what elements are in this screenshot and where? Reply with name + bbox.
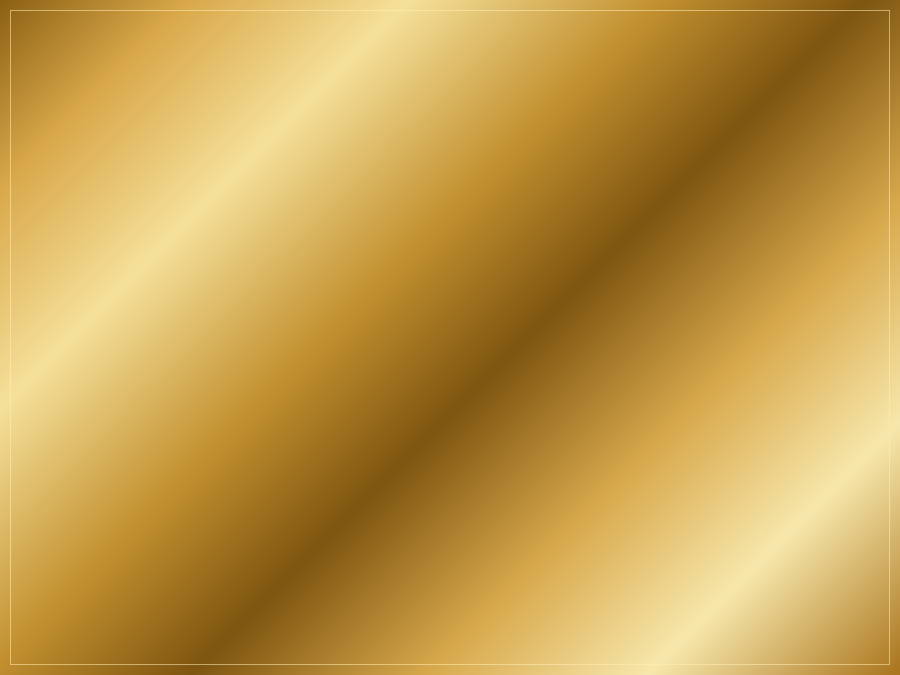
text-content-block: 11000 Chandra Mool Mantra Jaap Sahit Dud… <box>54 68 484 339</box>
headline-primary: 11000 Chandra <box>54 68 484 119</box>
bel-patra-leaves-icon <box>198 481 328 611</box>
map-pin-icon <box>54 285 84 327</box>
earring-icon <box>723 168 737 188</box>
headline-tertiary: Sahit Dudh Abhishek <box>54 192 484 223</box>
milk-bowl-icon <box>108 513 212 589</box>
poster-canvas: 11000 Chandra Mool Mantra Jaap Sahit Dud… <box>0 0 900 675</box>
headline-tertiary-prefix: Sahit <box>54 192 123 222</box>
headline-tertiary-suffix: Abhishek <box>192 192 309 222</box>
damru-icon <box>837 286 871 326</box>
poster-inner-area: 11000 Chandra Mool Mantra Jaap Sahit Dud… <box>12 12 888 663</box>
tripundra-tilak-icon <box>663 126 707 135</box>
offering-props-group <box>108 441 338 611</box>
headline-tertiary-bold: Dudh <box>123 192 192 222</box>
brand-logo-glyph: ॐ <box>818 48 852 82</box>
location-text: Someshwar Mahadev, Prayagraj <box>96 285 313 339</box>
divider-ornament: ✦ ✦ <box>54 245 434 259</box>
location-row: Someshwar Mahadev, Prayagraj <box>54 285 484 339</box>
rudraksha-mala <box>643 226 739 376</box>
headline-secondary: Mool Mantra Jaap <box>54 133 484 174</box>
earring-icon <box>635 168 649 188</box>
brand-logo-icon[interactable]: ॐ <box>812 42 858 88</box>
